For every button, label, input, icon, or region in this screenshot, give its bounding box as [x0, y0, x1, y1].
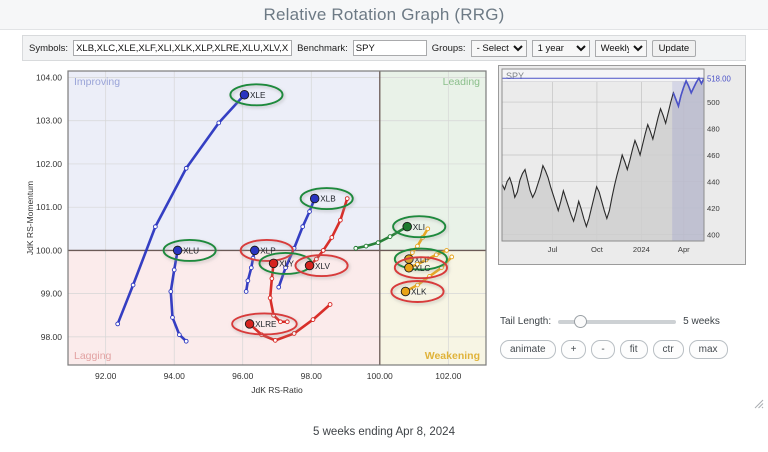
tail-node [279, 320, 283, 324]
y-axis-tick-label: 103.00 [36, 116, 62, 126]
tail-node [416, 283, 420, 287]
tail-node [169, 290, 173, 294]
mini-y-tick-label: 440 [707, 177, 720, 186]
data-point-marker[interactable] [240, 90, 249, 99]
data-point-marker[interactable] [305, 261, 314, 270]
tail-node [217, 121, 221, 125]
tail-node [416, 244, 420, 248]
y-axis-tick-label: 104.00 [36, 72, 62, 82]
max-button[interactable]: max [689, 340, 728, 359]
tail-node [338, 218, 342, 222]
zoom-in-button[interactable]: + [561, 340, 587, 359]
tail-length-row: Tail Length: 5 weeks [500, 316, 750, 327]
tail-node [388, 235, 392, 239]
mini-y-tick-label: 420 [707, 204, 720, 213]
mini-y-tick-label: 480 [707, 125, 720, 134]
tail-node [292, 332, 296, 336]
toolbar: Symbols: Benchmark: Groups: - Select - 1… [22, 35, 746, 61]
benchmark-label: Benchmark: [297, 43, 348, 54]
data-point-label: XLC [414, 264, 430, 273]
x-axis-tick-label: 98.00 [301, 371, 323, 381]
tail-length-value: 5 weeks [683, 316, 720, 327]
symbols-input[interactable] [73, 40, 292, 56]
tail-node [426, 227, 430, 231]
tail-length-slider-knob[interactable] [574, 315, 587, 328]
footer: 5 weeks ending Apr 8, 2024 [0, 411, 768, 452]
tail-node [364, 244, 368, 248]
y-axis-tick-label: 101.00 [36, 202, 62, 212]
mini-x-tick-label: Oct [591, 245, 604, 254]
mini-x-tick-label: 2024 [633, 245, 650, 254]
quadrant-lagging-bg [68, 250, 380, 365]
tail-node [172, 268, 176, 272]
animate-button[interactable]: animate [500, 340, 556, 359]
frequency-select[interactable]: Weekly [595, 40, 647, 57]
tail-node [277, 285, 281, 289]
controls-panel: Tail Length: 5 weeks animate + - fit ctr… [500, 316, 750, 359]
tail-node [270, 277, 274, 281]
tail-node [244, 290, 248, 294]
data-point-label: XLK [411, 288, 427, 297]
groups-select[interactable]: - Select - [471, 40, 527, 57]
tail-node [301, 225, 305, 229]
tail-node [184, 166, 188, 170]
data-point-label: XLU [183, 247, 199, 256]
quadrant-leading-bg [380, 71, 486, 250]
tail-node [116, 322, 120, 326]
tail-node [376, 241, 380, 245]
page-title: Relative Rotation Graph (RRG) [263, 5, 504, 25]
tail-node [450, 255, 454, 259]
data-point-marker[interactable] [405, 263, 414, 272]
y-axis-title: JdK RS-Momentum [25, 181, 35, 255]
quadrant-label-improving: Improving [74, 76, 120, 88]
title-bar: Relative Rotation Graph (RRG) [0, 0, 768, 30]
data-point-marker[interactable] [401, 287, 410, 296]
x-axis-title: JdK RS-Ratio [251, 385, 303, 395]
tail-node [410, 251, 414, 255]
tail-node [153, 225, 157, 229]
center-button[interactable]: ctr [653, 340, 684, 359]
main-area: 92.0094.0096.0098.00100.00102.00104.0010… [0, 61, 768, 411]
tail-node [315, 257, 319, 261]
data-point-marker[interactable] [245, 320, 254, 329]
y-axis-tick-label: 98.00 [41, 332, 63, 342]
data-point-label: XLI [413, 223, 425, 232]
data-point-marker[interactable] [250, 246, 259, 255]
tail-node [177, 333, 181, 337]
mini-chart-header [502, 69, 704, 82]
tail-node [354, 246, 358, 250]
resize-grip-icon[interactable] [752, 397, 764, 409]
y-axis-tick-label: 102.00 [36, 159, 62, 169]
groups-label: Groups: [432, 43, 466, 54]
symbols-label: Symbols: [29, 43, 68, 54]
data-point-label: XLRE [255, 320, 277, 329]
update-button[interactable]: Update [652, 40, 697, 57]
tail-node [345, 197, 349, 201]
tail-node [268, 296, 272, 300]
tail-length-label: Tail Length: [500, 316, 551, 327]
x-axis-tick-label: 96.00 [232, 371, 254, 381]
mini-y-tick-label: 400 [707, 230, 720, 239]
rrg-chart[interactable]: 92.0094.0096.0098.00100.00102.00104.0010… [22, 65, 492, 405]
tail-node [328, 303, 332, 307]
benchmark-input[interactable] [353, 40, 427, 56]
mini-x-tick-label: Apr [678, 245, 690, 254]
last-value-label: 518.00 [707, 75, 732, 84]
x-axis-tick-label: 92.00 [95, 371, 117, 381]
data-point-label: XLB [320, 195, 336, 204]
tail-node [445, 249, 449, 253]
x-axis-tick-label: 102.00 [435, 371, 461, 381]
y-axis-tick-label: 100.00 [36, 245, 62, 255]
mini-y-tick-label: 500 [707, 98, 720, 107]
tail-node [330, 236, 334, 240]
data-point-label: XLY [279, 260, 294, 269]
period-select[interactable]: 1 year [532, 40, 590, 57]
tail-node [131, 283, 135, 287]
tail-node [321, 249, 325, 253]
mini-x-tick-label: Jul [548, 245, 558, 254]
tail-node [285, 320, 289, 324]
tail-node [171, 316, 175, 320]
tail-node [246, 279, 250, 283]
tail-length-slider[interactable] [558, 320, 676, 324]
quadrant-label-weakening: Weakening [425, 350, 480, 362]
zoom-out-button[interactable]: - [591, 340, 614, 359]
mini-y-tick-label: 460 [707, 151, 720, 160]
tail-node [434, 253, 438, 257]
rrg-plot-svg[interactable]: 92.0094.0096.0098.00100.00102.00104.0010… [22, 65, 492, 405]
tail-window-highlight[interactable] [673, 82, 704, 241]
data-point-label: XLV [315, 262, 330, 271]
data-point-marker[interactable] [269, 259, 278, 268]
data-point-marker[interactable] [310, 194, 319, 203]
x-axis-tick-label: 100.00 [367, 371, 393, 381]
mini-chart-symbol-label: SPY [506, 71, 524, 81]
y-axis-tick-label: 99.00 [41, 289, 63, 299]
tail-node [308, 210, 312, 214]
benchmark-mini-chart[interactable]: SPY400420440460480500JulOct2024Apr518.00 [498, 65, 746, 265]
footer-caption: 5 weeks ending Apr 8, 2024 [313, 426, 455, 438]
quadrant-label-leading: Leading [443, 76, 481, 88]
tail-node [273, 338, 277, 342]
playback-button-row: animate + - fit ctr max [500, 340, 750, 359]
tail-node [249, 266, 253, 270]
tail-node [311, 318, 315, 322]
x-axis-tick-label: 94.00 [164, 371, 186, 381]
fit-button[interactable]: fit [620, 340, 648, 359]
data-point-marker[interactable] [173, 246, 182, 255]
tail-node [184, 339, 188, 343]
quadrant-label-lagging: Lagging [74, 350, 112, 362]
data-point-label: XLE [250, 91, 266, 100]
quadrant-improving-bg [68, 71, 380, 250]
benchmark-mini-chart-svg[interactable]: SPY400420440460480500JulOct2024Apr518.00 [498, 65, 746, 265]
data-point-marker[interactable] [403, 222, 412, 231]
